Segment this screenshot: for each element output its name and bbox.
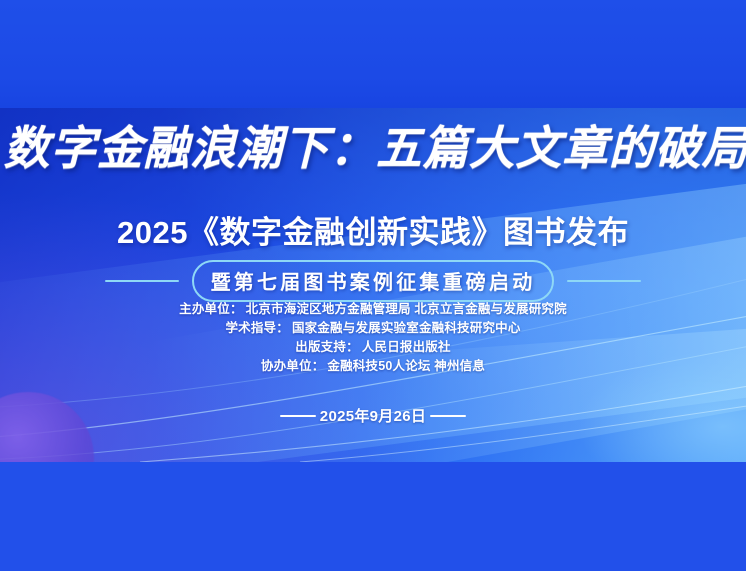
banner-content: 数字金融浪潮下：五篇大文章的破局与重构 2025《数字金融创新实践》图书发布 暨… <box>0 108 746 462</box>
organizer-row: 学术指导：国家金融与发展实验室金融科技研究中心 <box>0 319 746 338</box>
organizer-list: 主办单位：北京市海淀区地方金融管理局 北京立言金融与发展研究院 学术指导：国家金… <box>0 300 746 376</box>
banner-subheadline: 2025《数字金融创新实践》图书发布 <box>0 207 746 252</box>
pill-rule-right <box>567 280 641 282</box>
banner-pill-label: 暨第七届图书案例征集重磅启动 <box>192 260 555 302</box>
date-rule-right <box>430 415 466 417</box>
organizer-value: 人民日报出版社 <box>362 340 451 354</box>
organizer-label: 协办单位： <box>261 359 325 373</box>
organizer-value: 金融科技50人论坛 神州信息 <box>327 359 485 373</box>
event-date-row: 2025年9月26日 <box>0 405 746 426</box>
pill-rule-left <box>105 280 179 282</box>
organizer-row: 出版支持：人民日报出版社 <box>0 338 746 357</box>
poster-page: 数字金融浪潮下：五篇大文章的破局与重构 2025《数字金融创新实践》图书发布 暨… <box>0 0 746 571</box>
organizer-label: 出版支持： <box>295 340 359 354</box>
date-rule-left <box>280 415 316 417</box>
banner-pill-row: 暨第七届图书案例征集重磅启动 <box>0 260 746 302</box>
banner-headline: 数字金融浪潮下：五篇大文章的破局与重构 <box>4 124 743 174</box>
organizer-value: 北京市海淀区地方金融管理局 北京立言金融与发展研究院 <box>246 302 567 316</box>
event-banner: 数字金融浪潮下：五篇大文章的破局与重构 2025《数字金融创新实践》图书发布 暨… <box>0 108 746 462</box>
organizer-row: 主办单位：北京市海淀区地方金融管理局 北京立言金融与发展研究院 <box>0 300 746 319</box>
organizer-label: 主办单位： <box>179 302 243 316</box>
page-bottom-background <box>0 462 746 571</box>
organizer-value: 国家金融与发展实验室金融科技研究中心 <box>292 321 521 335</box>
page-top-background <box>0 0 746 108</box>
organizer-row: 协办单位：金融科技50人论坛 神州信息 <box>0 357 746 376</box>
organizer-label: 学术指导： <box>225 321 289 335</box>
event-date: 2025年9月26日 <box>318 405 428 426</box>
